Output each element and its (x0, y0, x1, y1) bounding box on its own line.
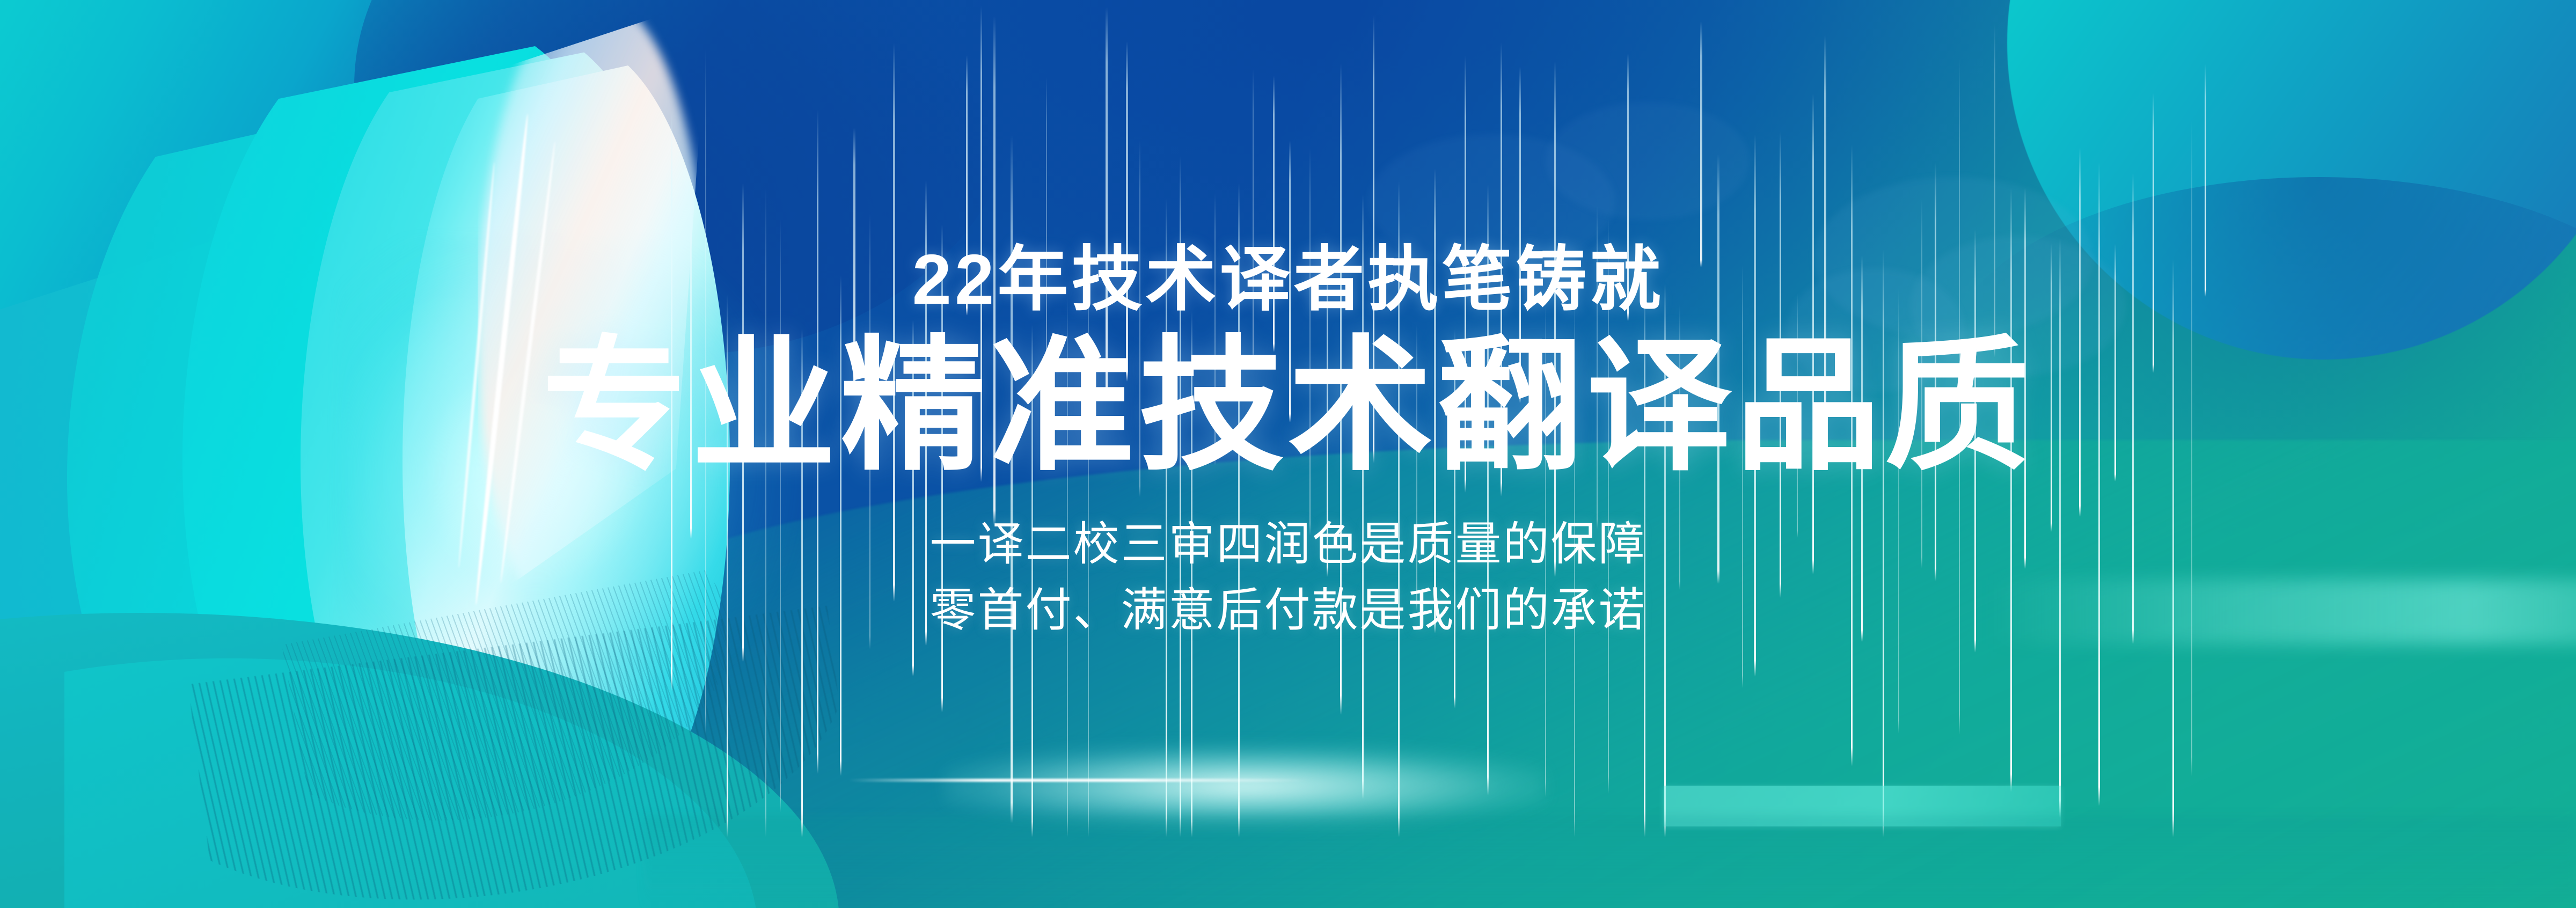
banner-tagline-2: 零首付、满意后付款是我们的承诺 (930, 579, 1646, 642)
banner-headline: 专业精准技术翻译品质 (542, 334, 2034, 479)
promotional-banner: 22年技术译者执笔铸就 专业精准技术翻译品质 一译二校三审四润色是质量的保障 零… (0, 0, 2576, 908)
banner-text-block: 22年技术译者执笔铸就 专业精准技术翻译品质 一译二校三审四润色是质量的保障 零… (0, 0, 2576, 908)
banner-eyebrow-text: 22年技术译者执笔铸就 (912, 244, 1664, 315)
banner-tagline-1: 一译二校三审四润色是质量的保障 (930, 512, 1646, 576)
